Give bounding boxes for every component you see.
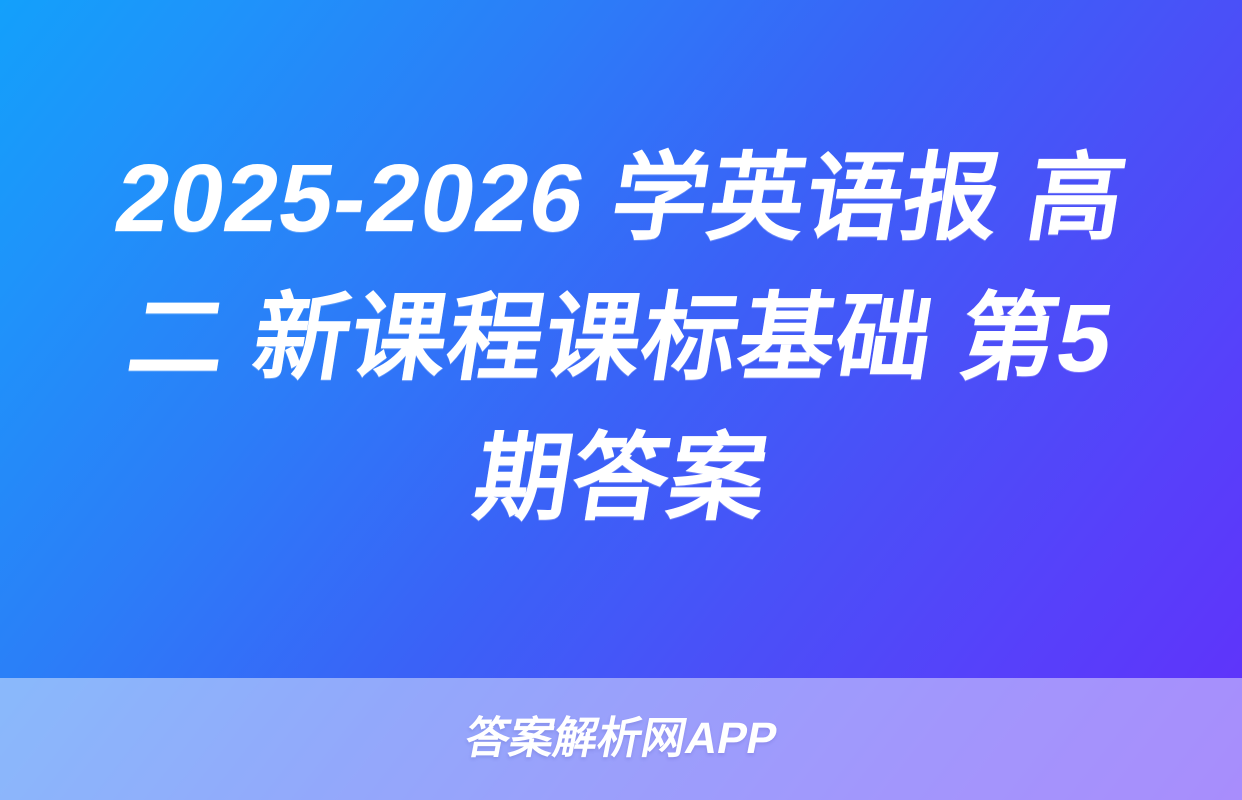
poster-banner: 2025-2026 学英语报 高 二 新课程课标基础 第5 期答案 答案解析网A…	[0, 0, 1242, 800]
page-title-line-3: 期答案	[49, 409, 1193, 549]
page-title-line-1: 2025-2026 学英语报 高	[49, 129, 1193, 269]
app-watermark-bar: 答案解析网APP	[0, 678, 1242, 800]
app-watermark-label: 答案解析网APP	[461, 717, 780, 761]
page-title-line-2: 二 新课程课标基础 第5	[49, 269, 1193, 409]
title-block: 2025-2026 学英语报 高 二 新课程课标基础 第5 期答案	[0, 0, 1242, 678]
